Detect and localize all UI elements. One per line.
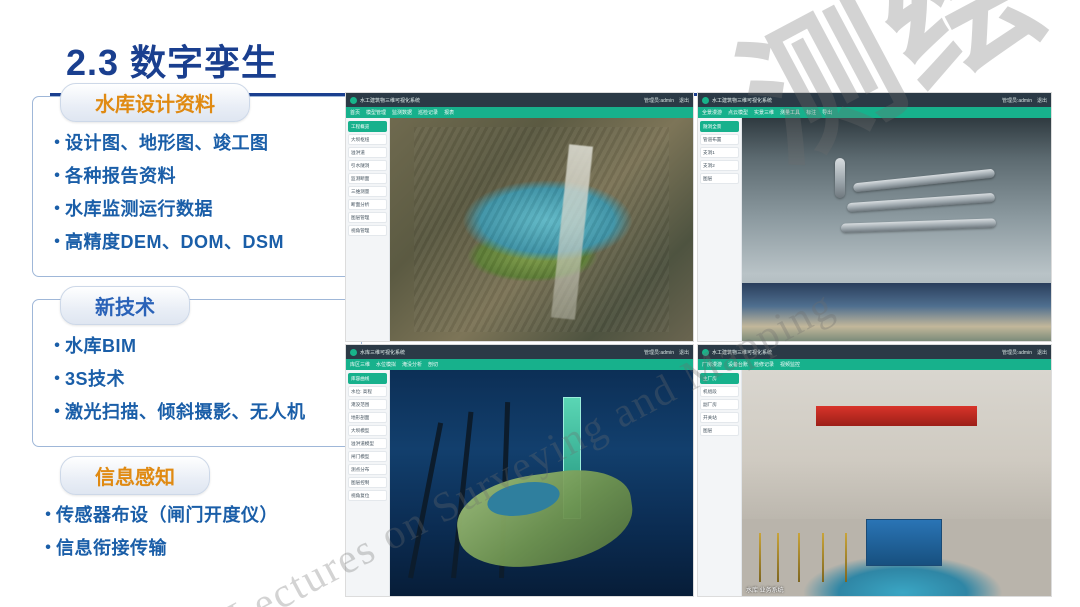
info-card-new-tech: 新技术 • 水库BIM • 3S技术 • 激光扫描、倾斜摄影、无人机 (32, 299, 362, 447)
app-title: 水库三维可视化系统 (360, 349, 405, 356)
app-body: 隧洞全景 管道布置 支洞1 支洞2 图层 (698, 118, 1051, 341)
menu-item[interactable]: 设备台账 (728, 361, 748, 368)
user-label[interactable]: 管理员:admin (644, 349, 674, 356)
bullet-icon: • (40, 535, 56, 561)
app-sidebar[interactable]: 主厂房 机组段 副厂房 开关站 图层 (698, 370, 742, 596)
menu-item[interactable]: 库区三维 (350, 361, 370, 368)
app-logo-icon (350, 97, 357, 104)
pipe-shape (841, 218, 996, 232)
sidebar-item[interactable]: 地形剖面 (348, 412, 387, 423)
app-title: 水工建筑物三维可视化系统 (360, 97, 420, 104)
list-item: • 3S技术 (49, 366, 351, 392)
screenshot-aerial-reservoir[interactable]: 水工建筑物三维可视化系统 管理员:admin 退出 首页 模型管理 监测数据 巡… (345, 92, 694, 342)
model-3d-viewport[interactable] (390, 370, 693, 596)
user-label[interactable]: 管理员:admin (644, 97, 674, 104)
content-column: 水库设计资料 • 设计图、地形图、竣工图 • 各种报告资料 • 水库监测运行数据… (32, 96, 362, 592)
list-item: • 信息衔接传输 (40, 535, 352, 561)
app-menubar[interactable]: 厂房漫游 设备台账 检修记录 视频监控 (698, 359, 1051, 370)
sidebar-item[interactable]: 闸门模型 (348, 451, 387, 462)
sidebar-item[interactable]: 溢洪道模型 (348, 438, 387, 449)
card-body: • 设计图、地形图、竣工图 • 各种报告资料 • 水库监测运行数据 • 高精度D… (32, 96, 362, 277)
logout-button[interactable]: 退出 (1037, 97, 1047, 104)
app-sidebar[interactable]: 库容曲线 水位: 高程 淹没范围 地形剖面 大坝模型 溢洪道模型 闸门模型 测点… (346, 370, 390, 596)
bullet-icon: • (49, 196, 65, 222)
logout-button[interactable]: 退出 (679, 97, 689, 104)
bullet-icon: • (49, 229, 65, 255)
menu-item[interactable]: 首页 (350, 109, 360, 116)
app-menubar[interactable]: 库区三维 水位模拟 淹没分析 剖切 (346, 359, 693, 370)
card-heading: 水库设计资料 (60, 83, 250, 122)
menu-item[interactable]: 导出 (822, 109, 832, 116)
list-item-label: 激光扫描、倾斜摄影、无人机 (65, 399, 306, 425)
menu-item[interactable]: 测量工具 (780, 109, 800, 116)
sidebar-item[interactable]: 三维测量 (348, 186, 387, 197)
list-item-label: 传感器布设（闸门开度仪） (56, 502, 278, 528)
screenshot-caption: 水库 业务系统 (746, 585, 784, 594)
underwater-scene (390, 370, 693, 596)
menu-item[interactable]: 巡检记录 (418, 109, 438, 116)
menu-item[interactable]: 实景三维 (754, 109, 774, 116)
menu-item[interactable]: 全景漫游 (702, 109, 722, 116)
list-item-label: 各种报告资料 (65, 163, 176, 189)
sidebar-item[interactable]: 图层 (700, 173, 739, 184)
sidebar-item[interactable]: 水位: 高程 (348, 386, 387, 397)
sidebar-item[interactable]: 副厂房 (700, 399, 739, 410)
card-heading: 信息感知 (60, 456, 210, 495)
sidebar-item[interactable]: 视角管理 (348, 225, 387, 236)
app-brand: 水工建筑物三维可视化系统 (702, 349, 772, 356)
powerhouse-photo (742, 370, 1051, 596)
app-titlebar-tools[interactable]: 管理员:admin 退出 (1002, 349, 1047, 356)
app-titlebar-tools[interactable]: 管理员:admin 退出 (1002, 97, 1047, 104)
app-titlebar: 水工建筑物三维可视化系统 管理员:admin 退出 (698, 345, 1051, 359)
panorama-viewport[interactable] (742, 118, 1051, 341)
app-titlebar: 水工建筑物三维可视化系统 管理员:admin 退出 (346, 93, 693, 107)
bullet-icon: • (49, 163, 65, 189)
sidebar-item[interactable]: 大坝枢纽 (348, 134, 387, 145)
sidebar-item[interactable]: 大坝模型 (348, 425, 387, 436)
sidebar-item[interactable]: 测点分布 (348, 464, 387, 475)
stanchion-row (754, 533, 859, 583)
app-sidebar[interactable]: 工程概览 大坝枢纽 溢洪道 引水隧洞 监测断面 三维测量 断面分析 图层管理 视… (346, 118, 390, 341)
sidebar-item[interactable]: 机组段 (700, 386, 739, 397)
app-brand: 水工建筑物三维可视化系统 (702, 97, 772, 104)
menu-item[interactable]: 检修记录 (754, 361, 774, 368)
list-item-label: 水库监测运行数据 (65, 196, 213, 222)
app-title: 水工建筑物三维可视化系统 (712, 97, 772, 104)
app-title: 水工建筑物三维可视化系统 (712, 349, 772, 356)
app-menubar[interactable]: 全景漫游 点云模型 实景三维 测量工具 标注 导出 (698, 107, 1051, 118)
app-titlebar-tools[interactable]: 管理员:admin 退出 (644, 97, 689, 104)
menu-item[interactable]: 标注 (806, 109, 816, 116)
card-heading: 新技术 (60, 286, 190, 325)
sidebar-item[interactable]: 支洞1 (700, 147, 739, 158)
bullet-icon: • (49, 399, 65, 425)
sidebar-item[interactable]: 开关站 (700, 412, 739, 423)
sidebar-item[interactable]: 图层控制 (348, 477, 387, 488)
sidebar-item[interactable]: 隧洞全景 (700, 121, 739, 132)
screenshot-underwater-model[interactable]: 水库三维可视化系统 管理员:admin 退出 库区三维 水位模拟 淹没分析 剖切… (345, 344, 694, 597)
overhead-crane (816, 406, 977, 426)
pipe-shape (853, 169, 995, 193)
bullet-icon: • (49, 366, 65, 392)
slide-header: 2.3 数字孪生 (0, 18, 1080, 78)
user-label[interactable]: 管理员:admin (1002, 349, 1032, 356)
sidebar-item[interactable]: 图层 (700, 425, 739, 436)
horizon-band (742, 283, 1051, 341)
screenshot-powerhouse-hall[interactable]: 水工建筑物三维可视化系统 管理员:admin 退出 厂房漫游 设备台账 检修记录… (697, 344, 1052, 597)
app-menubar[interactable]: 首页 模型管理 监测数据 巡检记录 报表 (346, 107, 693, 118)
list-item-label: 高精度DEM、DOM、DSM (65, 229, 284, 255)
list-item-label: 信息衔接传输 (56, 535, 167, 561)
list-item-label: 水库BIM (65, 333, 137, 359)
app-sidebar[interactable]: 隧洞全景 管道布置 支洞1 支洞2 图层 (698, 118, 742, 341)
sidebar-item[interactable]: 监测断面 (348, 173, 387, 184)
sidebar-item[interactable]: 淹没范围 (348, 399, 387, 410)
sidebar-item[interactable]: 断面分析 (348, 199, 387, 210)
sidebar-item[interactable]: 库容曲线 (348, 373, 387, 384)
pipe-shape (835, 158, 845, 198)
app-titlebar: 水库三维可视化系统 管理员:admin 退出 (346, 345, 693, 359)
sidebar-item[interactable]: 管道布置 (700, 134, 739, 145)
sidebar-item[interactable]: 溢洪道 (348, 147, 387, 158)
screenshot-grid: 水工建筑物三维可视化系统 管理员:admin 退出 首页 模型管理 监测数据 巡… (345, 92, 1050, 595)
app-logo-icon (702, 349, 709, 356)
menu-item[interactable]: 淹没分析 (402, 361, 422, 368)
list-item: • 各种报告资料 (49, 163, 351, 189)
app-body: 主厂房 机组段 副厂房 开关站 图层 水库 业务系统 (698, 370, 1051, 596)
menu-item[interactable]: 剖切 (428, 361, 438, 368)
bullet-icon: • (40, 502, 56, 528)
sidebar-item[interactable]: 支洞2 (700, 160, 739, 171)
user-label[interactable]: 管理员:admin (1002, 97, 1032, 104)
logout-button[interactable]: 退出 (679, 349, 689, 356)
pipe-shape (847, 193, 996, 212)
terrain-mesh (451, 462, 638, 576)
bullet-icon: • (49, 333, 65, 359)
sidebar-item[interactable]: 工程概览 (348, 121, 387, 132)
app-body: 工程概览 大坝枢纽 溢洪道 引水隧洞 监测断面 三维测量 断面分析 图层管理 视… (346, 118, 693, 341)
list-item: • 传感器布设（闸门开度仪） (40, 502, 352, 528)
menu-item[interactable]: 模型管理 (366, 109, 386, 116)
menu-item[interactable]: 监测数据 (392, 109, 412, 116)
list-item: • 设计图、地形图、竣工图 (49, 130, 351, 156)
app-body: 库容曲线 水位: 高程 淹没范围 地形剖面 大坝模型 溢洪道模型 闸门模型 测点… (346, 370, 693, 596)
app-brand: 水库三维可视化系统 (350, 349, 405, 356)
list-item-label: 设计图、地形图、竣工图 (65, 130, 269, 156)
map-3d-viewport[interactable] (390, 118, 693, 341)
app-logo-icon (702, 97, 709, 104)
screenshot-tunnel-pipes[interactable]: 水工建筑物三维可视化系统 管理员:admin 退出 全景漫游 点云模型 实景三维… (697, 92, 1052, 342)
list-item: • 高精度DEM、DOM、DSM (49, 229, 351, 255)
interior-panorama-viewport[interactable]: 水库 业务系统 (742, 370, 1051, 596)
list-item-label: 3S技术 (65, 366, 125, 392)
list-item: • 激光扫描、倾斜摄影、无人机 (49, 399, 351, 425)
logout-button[interactable]: 退出 (1037, 349, 1047, 356)
menu-item[interactable]: 水位模拟 (376, 361, 396, 368)
sidebar-item[interactable]: 主厂房 (700, 373, 739, 384)
menu-item[interactable]: 点云模型 (728, 109, 748, 116)
generator-housing (866, 519, 942, 566)
info-card-design-data: 水库设计资料 • 设计图、地形图、竣工图 • 各种报告资料 • 水库监测运行数据… (32, 96, 362, 277)
sidebar-item[interactable]: 引水隧洞 (348, 160, 387, 171)
bullet-icon: • (49, 130, 65, 156)
strut-shape (408, 422, 443, 578)
info-card-sensing: 信息感知 • 传感器布设（闸门开度仪） • 信息衔接传输 (32, 469, 362, 582)
sidebar-item[interactable]: 视角复位 (348, 490, 387, 501)
sidebar-item[interactable]: 图层管理 (348, 212, 387, 223)
menu-item[interactable]: 视频监控 (780, 361, 800, 368)
app-brand: 水工建筑物三维可视化系统 (350, 97, 420, 104)
app-logo-icon (350, 349, 357, 356)
menu-item[interactable]: 报表 (444, 109, 454, 116)
menu-item[interactable]: 厂房漫游 (702, 361, 722, 368)
app-titlebar: 水工建筑物三维可视化系统 管理员:admin 退出 (698, 93, 1051, 107)
list-item: • 水库监测运行数据 (49, 196, 351, 222)
aerial-imagery (390, 118, 693, 341)
page-title: 2.3 数字孪生 (66, 34, 278, 86)
app-titlebar-tools[interactable]: 管理员:admin 退出 (644, 349, 689, 356)
list-item: • 水库BIM (49, 333, 351, 359)
